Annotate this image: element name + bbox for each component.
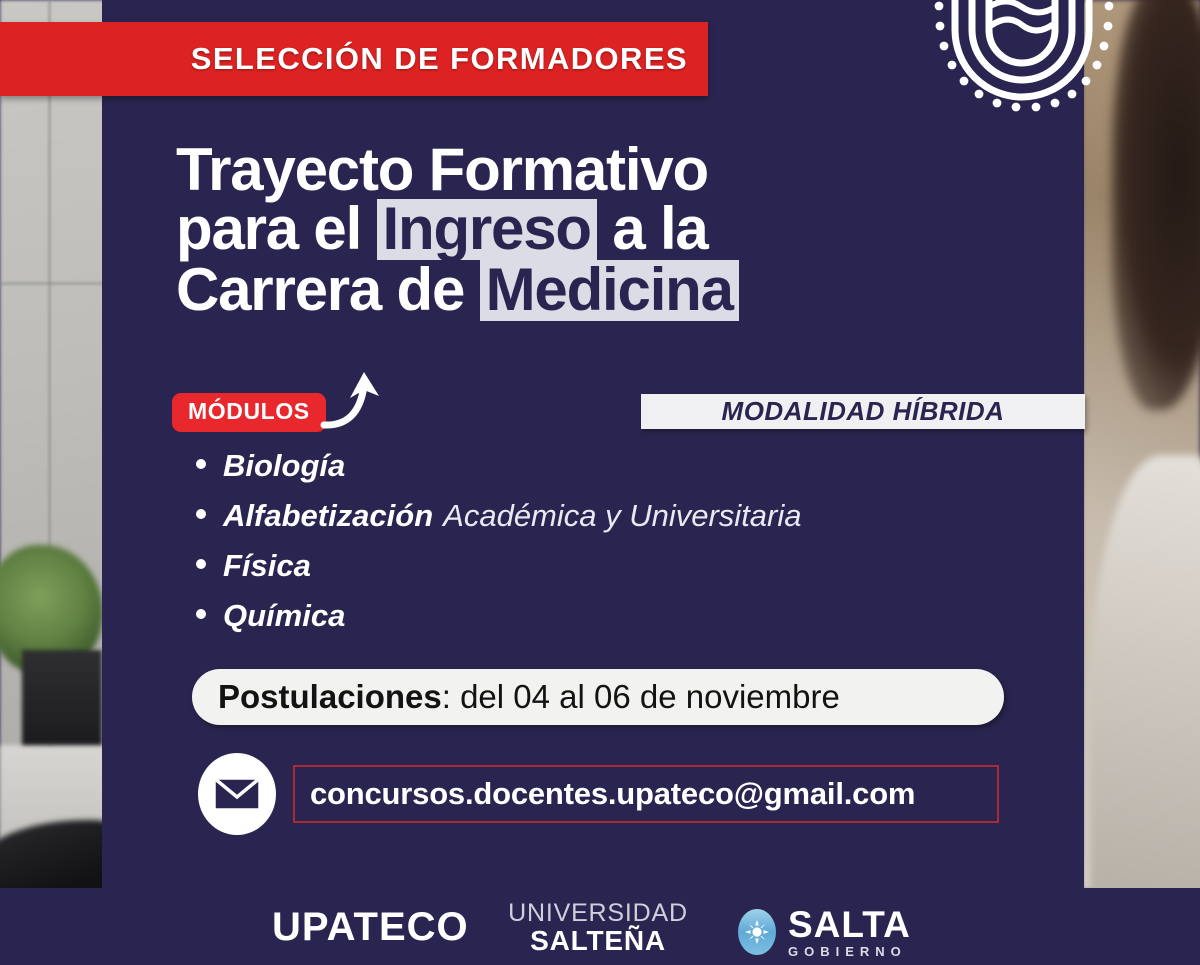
- logo-universidad-salteña: UNIVERSIDAD SALTEÑA: [500, 901, 696, 955]
- logo-upateco: UPATECO: [272, 905, 469, 950]
- modulos-badge-label: MÓDULOS: [188, 398, 310, 424]
- salta-name: SALTA: [788, 906, 911, 943]
- bullet-icon: [196, 509, 206, 519]
- email-box[interactable]: concursos.docentes.upateco@gmail.com: [293, 765, 999, 823]
- envelope-icon[interactable]: [198, 753, 276, 835]
- module-name: Alfabetización: [223, 498, 433, 534]
- module-name: Química: [223, 598, 345, 634]
- modules-list: Biología Alfabetización Académica y Univ…: [196, 448, 1056, 648]
- module-name: Biología: [223, 448, 345, 484]
- headline-highlight-medicina: Medicina: [480, 260, 739, 321]
- bullet-icon: [196, 609, 206, 619]
- bullet-icon: [196, 459, 206, 469]
- module-name: Física: [223, 548, 311, 584]
- salta-wordmark: SALTA GOBIERNO: [788, 906, 911, 958]
- headline-line3-pre: Carrera de: [176, 256, 480, 323]
- applications-dates: : del 04 al 06 de noviembre: [442, 678, 840, 715]
- university-shield-emblem-icon: [915, 0, 1130, 128]
- modalidad-badge: MODALIDAD HÍBRIDA: [641, 394, 1085, 429]
- list-item: Alfabetización Académica y Universitaria: [196, 498, 1056, 534]
- modulos-badge: MÓDULOS: [172, 393, 326, 432]
- applications-pill: Postulaciones: del 04 al 06 de noviembre: [192, 669, 1004, 725]
- list-item: Biología: [196, 448, 1056, 484]
- bullet-icon: [196, 559, 206, 569]
- email-address: concursos.docentes.upateco@gmail.com: [295, 776, 915, 812]
- page-title: Trayecto Formativo para el Ingreso a la …: [176, 140, 1036, 321]
- headline-line-2: para el Ingreso a la: [176, 199, 1036, 260]
- modalidad-label: MODALIDAD HÍBRIDA: [722, 396, 1005, 427]
- list-item: Química: [196, 598, 1056, 634]
- logo-universidad-line1: UNIVERSIDAD: [500, 901, 696, 927]
- poster-canvas: SELECCIÓN DE FORMADORES: [0, 0, 1200, 965]
- module-detail: Académica y Universitaria: [443, 498, 801, 534]
- headline-line-1: Trayecto Formativo: [176, 140, 1036, 199]
- background-pot: [22, 650, 102, 745]
- sun-of-may-icon: [738, 909, 776, 955]
- applications-text: Postulaciones: del 04 al 06 de noviembre: [192, 678, 840, 716]
- applications-label: Postulaciones: [218, 678, 442, 715]
- selection-banner-label: SELECCIÓN DE FORMADORES: [191, 41, 708, 77]
- logo-universidad-line2: SALTEÑA: [500, 927, 696, 956]
- salta-sub: GOBIERNO: [788, 945, 911, 958]
- selection-banner: SELECCIÓN DE FORMADORES: [0, 22, 708, 96]
- headline-highlight-ingreso: Ingreso: [377, 199, 597, 260]
- contact-row: concursos.docentes.upateco@gmail.com: [198, 753, 1008, 835]
- headline-line2-pre: para el: [176, 195, 377, 262]
- headline-line2-post: a la: [597, 195, 708, 262]
- curved-arrow-up-icon: [320, 368, 400, 434]
- logo-salta-gobierno: SALTA GOBIERNO: [738, 906, 911, 958]
- headline-line-3: Carrera de Medicina: [176, 260, 1036, 321]
- list-item: Física: [196, 548, 1056, 584]
